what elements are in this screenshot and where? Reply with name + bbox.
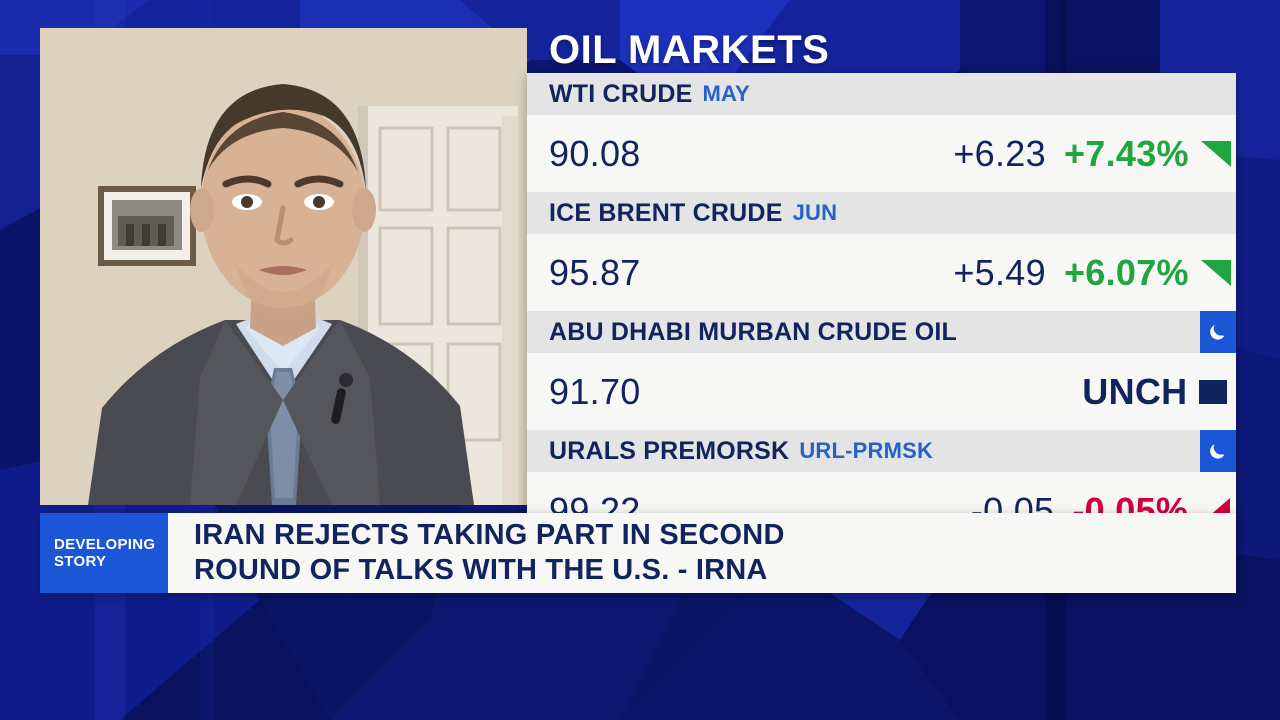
quote-table: WTI CRUDE MAY 90.08 +6.23 +7.43% ICE BRE… <box>527 73 1236 549</box>
quote-group[interactable]: ABU DHABI MURBAN CRUDE OIL 91.70 UNCH <box>527 311 1236 430</box>
contract-month: JUN <box>793 200 838 226</box>
headline-line-1: IRAN REJECTS TAKING PART IN SECOND <box>194 518 1236 553</box>
contract-month: URL-PRMSK <box>799 438 933 464</box>
board-title-bar: OIL MARKETS <box>527 28 1236 73</box>
quote-row: 90.08 +6.23 +7.43% <box>527 115 1236 192</box>
headline-line-2: ROUND OF TALKS WITH THE U.S. - IRNA <box>194 553 1236 588</box>
percent-change: +6.07% <box>1064 252 1199 294</box>
quote-header: ICE BRENT CRUDE JUN <box>527 192 1236 234</box>
status-badge: DEVELOPING STORY <box>40 513 168 593</box>
instrument-name: WTI CRUDE <box>549 80 692 109</box>
oil-markets-board: OIL MARKETS WTI CRUDE MAY 90.08 +6.23 +7… <box>527 28 1236 505</box>
instrument-name: ABU DHABI MURBAN CRUDE OIL <box>549 318 957 347</box>
quote-row: 95.87 +5.49 +6.07% <box>527 234 1236 311</box>
headline-box: IRAN REJECTS TAKING PART IN SECOND ROUND… <box>168 513 1236 593</box>
status-badge-line1: DEVELOPING <box>54 536 168 553</box>
video-feed <box>40 28 527 505</box>
instrument-name: ICE BRENT CRUDE <box>549 199 783 228</box>
net-change: +5.49 <box>805 252 1064 294</box>
moon-icon <box>1200 430 1236 472</box>
quote-header: WTI CRUDE MAY <box>527 73 1236 115</box>
last-price: 95.87 <box>549 252 805 294</box>
quote-header: ABU DHABI MURBAN CRUDE OIL <box>527 311 1236 353</box>
page-title: OIL MARKETS <box>549 28 829 73</box>
last-price: 91.70 <box>549 371 815 413</box>
video-frame-graphic <box>40 28 527 505</box>
status-badge-line2: STORY <box>54 553 168 570</box>
contract-month: MAY <box>702 81 749 107</box>
lower-third-banner: DEVELOPING STORY IRAN REJECTS TAKING PAR… <box>40 513 1236 593</box>
moon-icon <box>1200 311 1236 353</box>
instrument-name: URALS PREMORSK <box>549 437 789 466</box>
quote-group[interactable]: WTI CRUDE MAY 90.08 +6.23 +7.43% <box>527 73 1236 192</box>
triangle-down-green-icon <box>1199 258 1236 288</box>
square-navy-icon <box>1197 377 1236 407</box>
quote-row: 91.70 UNCH <box>527 353 1236 430</box>
percent-change: +7.43% <box>1064 133 1199 175</box>
quote-header: URALS PREMORSK URL-PRMSK <box>527 430 1236 472</box>
net-change: +6.23 <box>805 133 1064 175</box>
last-price: 90.08 <box>549 133 805 175</box>
quote-group[interactable]: ICE BRENT CRUDE JUN 95.87 +5.49 +6.07% <box>527 192 1236 311</box>
triangle-down-green-icon <box>1199 139 1236 169</box>
percent-change: UNCH <box>1082 371 1197 413</box>
